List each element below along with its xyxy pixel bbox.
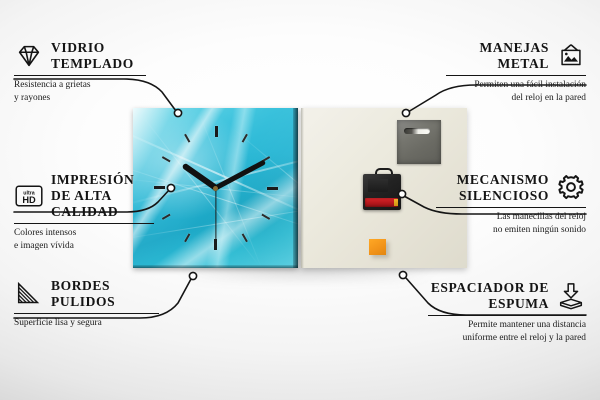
callout-description: Resistencia a grietas y rayones bbox=[14, 79, 146, 104]
callout-rule bbox=[446, 75, 586, 76]
product-assembly bbox=[133, 108, 467, 272]
wall-frame-icon bbox=[556, 41, 586, 71]
callout-rule bbox=[14, 223, 154, 224]
callout-description: Permite mantener una distancia uniforme … bbox=[428, 319, 586, 344]
polished-edge-icon bbox=[14, 279, 44, 309]
diamond-icon bbox=[14, 41, 44, 71]
callout-title: ESPACIADOR DE ESPUMA bbox=[428, 280, 549, 312]
clock-movement bbox=[363, 168, 401, 210]
callout-description: Colores intensos e imagen vívida bbox=[14, 227, 154, 252]
movement-detail bbox=[368, 179, 388, 192]
clock-center-cap bbox=[213, 186, 218, 191]
callout-title: MECANISMO SILENCIOSO bbox=[436, 172, 549, 204]
callout-title: BORDES PULIDOS bbox=[51, 278, 159, 310]
clock-tick bbox=[154, 187, 216, 189]
callout-description: Permiten una fácil instalación del reloj… bbox=[446, 79, 586, 104]
callout-title: IMPRESIÓN DE ALTA CALIDAD bbox=[51, 172, 154, 220]
back-panel-edge bbox=[301, 108, 304, 268]
svg-text:HD: HD bbox=[22, 195, 36, 205]
callout-rule bbox=[14, 75, 146, 76]
callout-vidrio-templado: VIDRIO TEMPLADO Resistencia a grietas y … bbox=[14, 40, 146, 104]
movement-body bbox=[363, 174, 401, 210]
clock-tick bbox=[216, 187, 278, 189]
battery bbox=[365, 198, 398, 207]
foam-spacer bbox=[369, 239, 386, 255]
callout-rule bbox=[436, 207, 586, 208]
callout-bordes-pulidos: BORDES PULIDOS Superficie lisa y segura bbox=[14, 278, 159, 330]
callout-rule bbox=[428, 315, 586, 316]
callout-description: Las manecillas del reloj no emiten ningú… bbox=[436, 211, 586, 236]
callout-description: Superficie lisa y segura bbox=[14, 317, 159, 330]
callout-rule bbox=[14, 313, 159, 314]
clock-tick bbox=[215, 126, 217, 188]
callout-espaciador-espuma: ESPACIADOR DE ESPUMA Permite mantener un… bbox=[428, 280, 586, 344]
foam-spacer-icon bbox=[556, 281, 586, 311]
glass-clock-face bbox=[133, 108, 298, 268]
glass-edge-bottom bbox=[133, 265, 298, 268]
callout-mecanismo-silencioso: MECANISMO SILENCIOSO Las manecillas del … bbox=[436, 172, 586, 236]
metal-hanger-plate bbox=[397, 120, 441, 164]
callout-title: MANEJAS METAL bbox=[446, 40, 549, 72]
clock-second-hand bbox=[215, 188, 216, 246]
callout-manejas-metal: MANEJAS METAL Permiten una fácil instala… bbox=[446, 40, 586, 104]
ultra-hd-icon: ultra HD bbox=[14, 181, 44, 211]
hanger-keyhole-slot bbox=[404, 128, 430, 134]
callout-impresion-alta-calidad: ultra HD IMPRESIÓN DE ALTA CALIDAD Color… bbox=[14, 172, 154, 252]
gear-icon bbox=[556, 173, 586, 203]
product-infographic: VIDRIO TEMPLADO Resistencia a grietas y … bbox=[0, 0, 600, 400]
glass-edge-right bbox=[293, 108, 298, 268]
callout-title: VIDRIO TEMPLADO bbox=[51, 40, 146, 72]
